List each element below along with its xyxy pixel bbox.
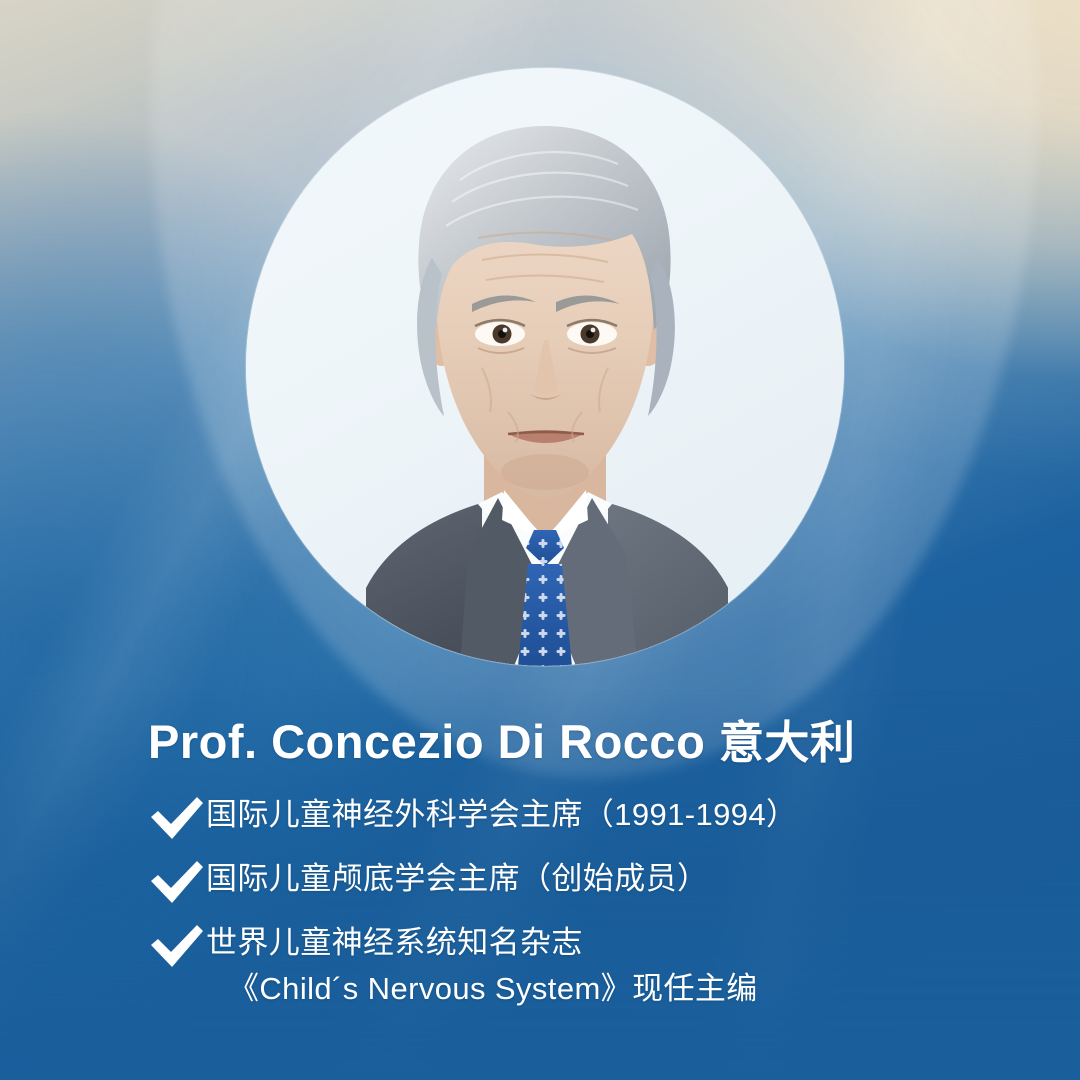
list-item: 国际儿童颅底学会主席（创始成员） [148, 856, 1028, 906]
list-item: 世界儿童神经系统知名杂志 《Child´s Nervous System》现任主… [148, 920, 1028, 1012]
person-country-cn: 意大利 [719, 717, 856, 768]
credential-text: 世界儿童神经系统知名杂志 《Child´s Nervous System》现任主… [206, 920, 758, 1012]
credential-text: 国际儿童神经外科学会主席（1991-1994） [206, 792, 797, 838]
checkmark-icon [148, 796, 206, 842]
checkmark-icon [148, 924, 206, 970]
page-title: Prof. Concezio Di Rocco 意大利 [148, 706, 855, 771]
credential-line-1: 世界儿童神经系统知名杂志 [206, 925, 583, 960]
portrait-illustration [246, 68, 844, 666]
portrait-avatar [246, 68, 844, 666]
list-item: 国际儿童神经外科学会主席（1991-1994） [148, 792, 1028, 842]
checkmark-icon [148, 860, 206, 906]
credential-text: 国际儿童颅底学会主席（创始成员） [206, 856, 708, 902]
credential-line-1: 国际儿童神经外科学会主席（1991-1994） [206, 797, 797, 832]
person-name-en: Prof. Concezio Di Rocco [148, 715, 705, 768]
credential-line-1: 国际儿童颅底学会主席（创始成员） [206, 861, 708, 896]
credential-line-2: 《Child´s Nervous System》现任主编 [206, 966, 758, 1012]
credentials-list: 国际儿童神经外科学会主席（1991-1994） 国际儿童颅底学会主席（创始成员）… [148, 792, 1028, 1026]
poster-canvas: Prof. Concezio Di Rocco 意大利 国际儿童神经外科学会主席… [0, 0, 1080, 1080]
